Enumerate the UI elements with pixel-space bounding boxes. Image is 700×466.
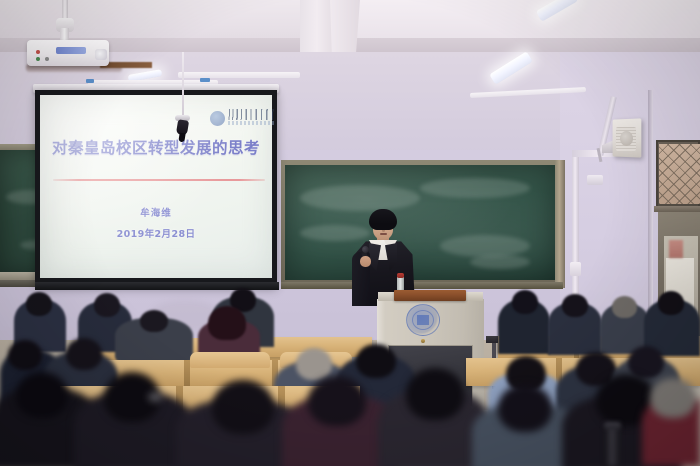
chalk-smudge xyxy=(440,235,530,257)
attendee-head xyxy=(8,340,42,370)
thermos-cap xyxy=(604,422,621,429)
logo-seal-icon xyxy=(210,111,225,126)
lecture-hall-photo: 对秦皇岛校区转型发展的思考 牟海维 2019年2月28日 xyxy=(0,0,700,466)
attendee-head xyxy=(66,338,102,370)
podium-screw xyxy=(421,339,425,343)
attendee-head xyxy=(512,290,538,314)
logo-wordmark xyxy=(228,109,278,120)
slide-presenter-name: 牟海维 xyxy=(46,205,266,219)
projector-indicator xyxy=(36,50,40,54)
light-fixture-rail xyxy=(178,72,300,78)
attendee-head xyxy=(612,296,637,318)
conduit-junction-box xyxy=(587,175,603,185)
light-endcap xyxy=(86,79,94,83)
presenter-hair xyxy=(369,209,397,230)
attendee-head xyxy=(356,344,396,378)
attendee-head xyxy=(94,293,120,317)
bottle-cap xyxy=(397,273,404,278)
chalk-smudge xyxy=(300,185,420,211)
microphone-cable xyxy=(182,52,184,124)
speaker-cone xyxy=(620,131,633,146)
attendee-head xyxy=(498,384,552,432)
projection-screen xyxy=(40,95,272,278)
attendee-head xyxy=(212,380,274,434)
presenter-mouth xyxy=(380,233,387,235)
chalk-smudge xyxy=(420,178,530,198)
thermos xyxy=(604,426,621,466)
attendee-head xyxy=(628,346,664,378)
projector-indicator xyxy=(45,57,49,61)
attendee-head xyxy=(658,291,684,315)
logo-subtext xyxy=(228,121,276,125)
chalk-smudge xyxy=(470,255,530,269)
projector-lens xyxy=(95,49,107,60)
chalk-smudge xyxy=(300,225,370,241)
attendee-head xyxy=(308,376,366,426)
projector-indicator xyxy=(36,57,40,61)
slide-date: 2019年2月28日 xyxy=(46,226,266,240)
podium-wood-surface xyxy=(394,290,466,301)
chalk-ledge xyxy=(281,282,563,289)
attendee-head xyxy=(16,372,68,418)
attendee-head xyxy=(208,306,246,340)
door-sign xyxy=(669,240,683,258)
window-grille xyxy=(659,144,700,204)
university-logo xyxy=(210,108,278,128)
attendee-head xyxy=(562,294,588,317)
podium-seal-center xyxy=(417,315,429,325)
presenter-hand xyxy=(360,256,371,267)
chalkboard-right-edge xyxy=(555,160,565,288)
attendee-head xyxy=(296,348,332,380)
attendee-head xyxy=(406,368,464,420)
seat-back[interactable] xyxy=(190,352,270,368)
attendee-head xyxy=(650,378,696,418)
wall-switch xyxy=(570,262,581,276)
slide-divider xyxy=(53,179,265,181)
light-endcap xyxy=(200,78,210,82)
slide-title: 对秦皇岛校区转型发展的思考 xyxy=(46,136,266,158)
attendee-head xyxy=(140,310,168,332)
attendee-glasses-icon xyxy=(148,392,162,402)
projector-brand-label xyxy=(56,47,86,54)
attendee-head xyxy=(26,292,52,316)
